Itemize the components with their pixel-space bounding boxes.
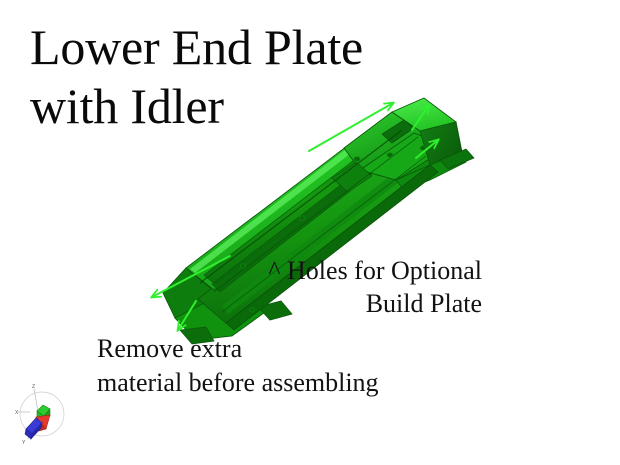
coordinate-axis-indicator[interactable]: Z X Y	[6, 381, 78, 447]
cad-annotated-figure: Lower End Plate with Idler ^ Holes for O…	[0, 0, 620, 465]
axis-triad-icon: Z X Y	[6, 381, 78, 447]
axis-label-x: X	[15, 410, 19, 416]
axis-label-y: Y	[22, 440, 26, 446]
axis-label-z: Z	[32, 384, 35, 390]
annotation-remove-extra-material: Remove extra material before assembling	[97, 332, 517, 400]
annotation-holes-for-optional-build-plate: ^ Holes for Optional Build Plate	[142, 255, 482, 320]
page-title: Lower End Plate with Idler	[30, 18, 470, 136]
